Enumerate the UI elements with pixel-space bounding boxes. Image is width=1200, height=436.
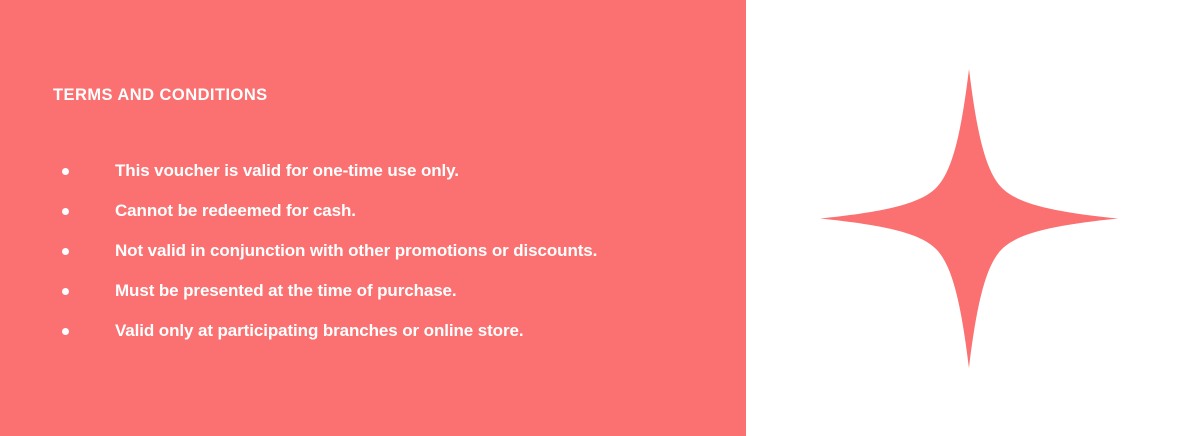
list-item-label: Must be presented at the time of purchas… — [115, 281, 457, 300]
list-item: Must be presented at the time of purchas… — [53, 271, 713, 311]
bullet-dot-icon — [62, 168, 69, 175]
list-item: Valid only at participating branches or … — [53, 311, 713, 351]
terms-list: This voucher is valid for one-time use o… — [53, 151, 713, 351]
bullet-dot-icon — [62, 248, 69, 255]
bullet-dot-icon — [62, 288, 69, 295]
list-item: This voucher is valid for one-time use o… — [53, 151, 713, 191]
list-item-label: Cannot be redeemed for cash. — [115, 201, 356, 220]
page-title: TERMS AND CONDITIONS — [53, 85, 268, 105]
terms-and-conditions-panel: TERMS AND CONDITIONS This voucher is val… — [0, 0, 746, 436]
bullet-dot-icon — [62, 328, 69, 335]
list-item-label: Not valid in conjunction with other prom… — [115, 241, 597, 260]
list-item-label: Valid only at participating branches or … — [115, 321, 523, 340]
list-item: Not valid in conjunction with other prom… — [53, 231, 713, 271]
list-item: Cannot be redeemed for cash. — [53, 191, 713, 231]
bullet-dot-icon — [62, 208, 69, 215]
list-item-label: This voucher is valid for one-time use o… — [115, 161, 459, 180]
four-pointed-sparkle-star-icon — [820, 69, 1118, 368]
voucher-terms-and-conditions-card: TERMS AND CONDITIONS This voucher is val… — [0, 0, 1200, 436]
decoration-panel — [746, 0, 1200, 436]
